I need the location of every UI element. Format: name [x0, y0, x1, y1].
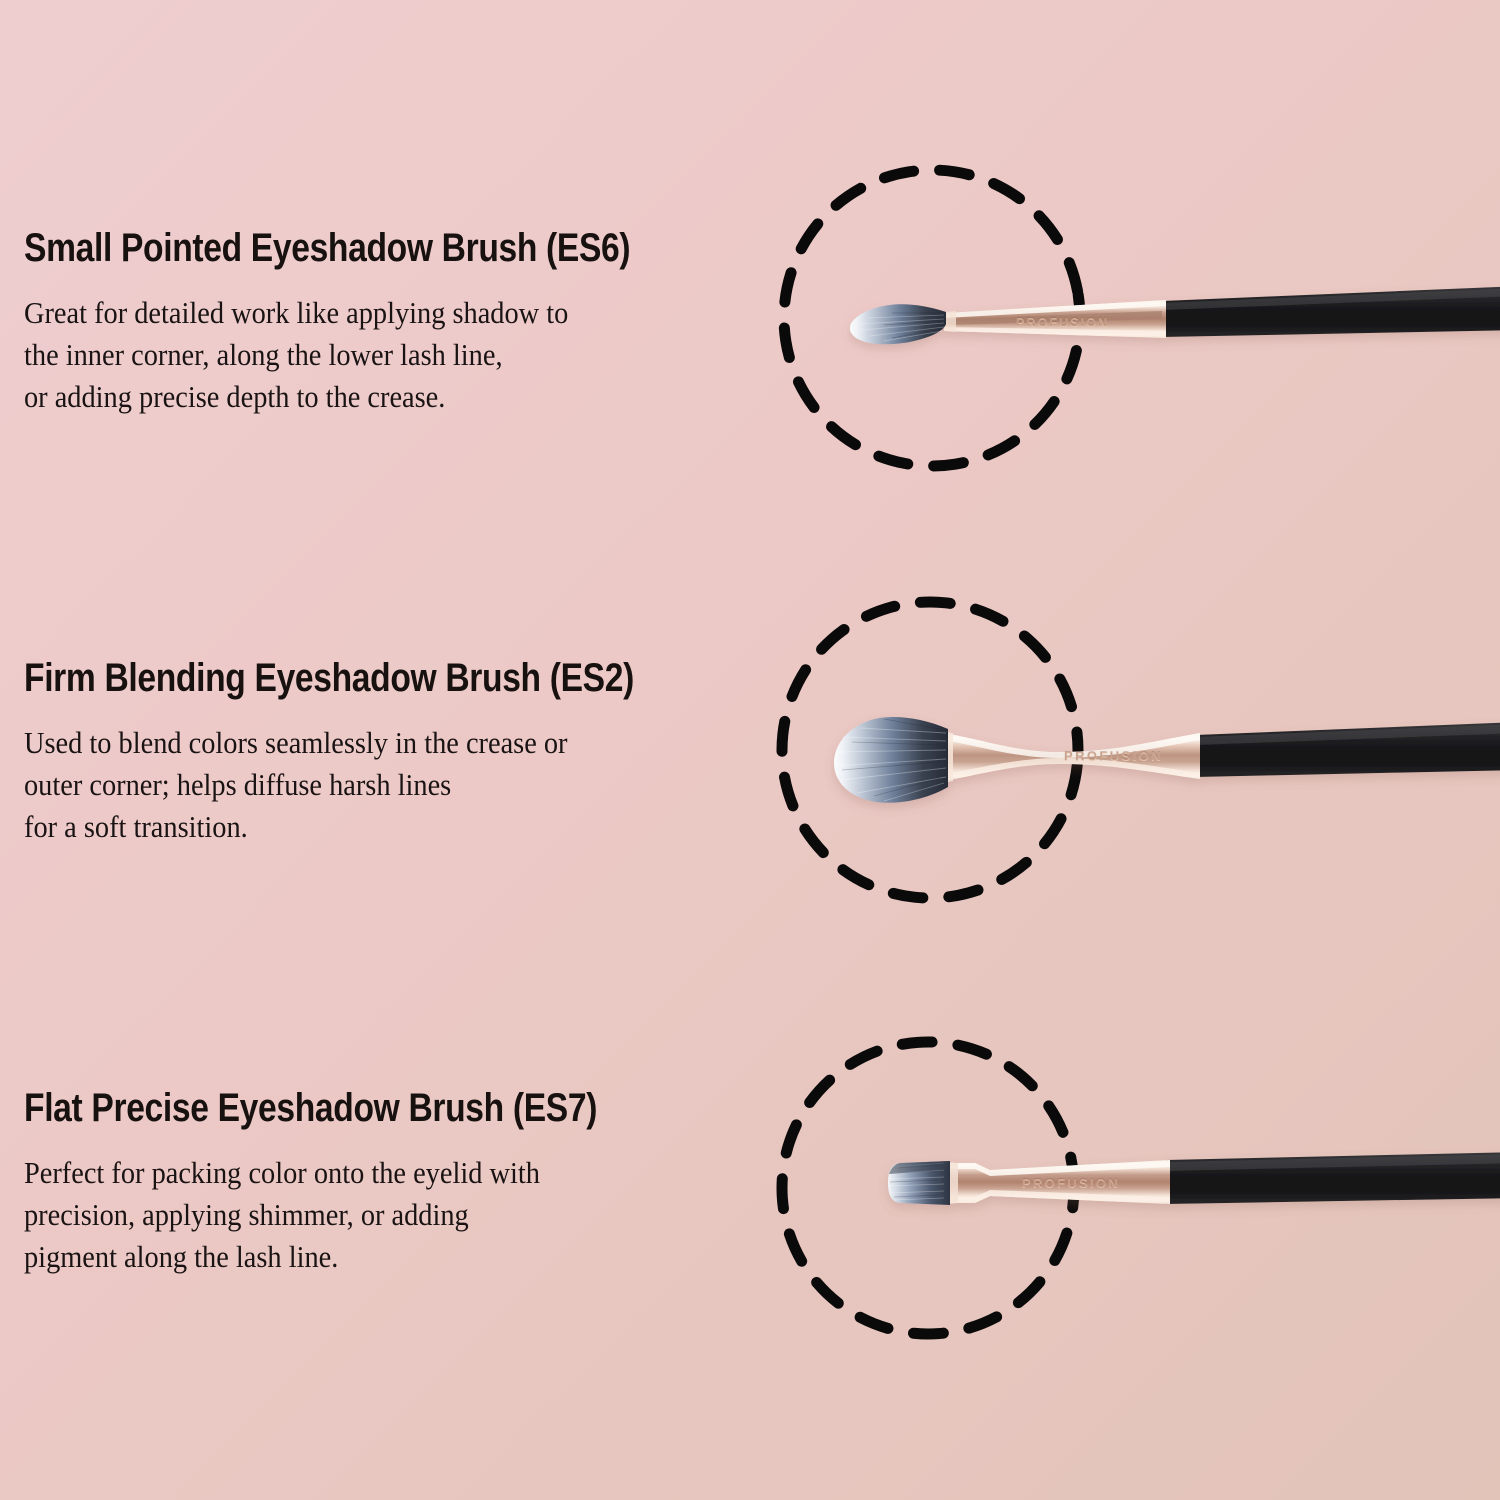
brush-es2: PROFUSION PROFUSION: [834, 717, 1500, 803]
brand-emboss-es6: PROFUSION: [1016, 316, 1109, 330]
svg-text:PROFUSION: PROFUSION: [1022, 1175, 1120, 1190]
section-body-es7: Perfect for packing color onto the eyeli…: [24, 1152, 658, 1278]
section-body-es2: Used to blend colors seamlessly in the c…: [24, 722, 699, 848]
brand-emboss-es7: PROFUSION: [1022, 1176, 1120, 1191]
section-title-es7: Flat Precise Eyeshadow Brush (ES7): [24, 1088, 597, 1128]
section-es6: Small Pointed Eyeshadow Brush (ES6) Grea…: [24, 228, 746, 418]
brand-emboss-es2: PROFUSION: [1064, 749, 1163, 764]
brush-es6: PROFUSION PROFUSION: [850, 286, 1500, 344]
brush-es7: PROFUSION PROFUSION: [888, 1152, 1500, 1205]
section-es2: Firm Blending Eyeshadow Brush (ES2) Used…: [24, 658, 750, 848]
dashed-circle-es7: [772, 1032, 1084, 1344]
svg-text:PROFUSION: PROFUSION: [1016, 315, 1109, 329]
section-title-es6: Small Pointed Eyeshadow Brush (ES6): [24, 228, 630, 268]
svg-text:PROFUSION: PROFUSION: [1064, 748, 1163, 763]
dashed-circle-es2: [767, 587, 1092, 912]
section-title-es2: Firm Blending Eyeshadow Brush (ES2): [24, 658, 634, 698]
section-body-es6: Great for detailed work like applying sh…: [24, 292, 695, 418]
product-infographic: PROFUSION PROFUSION: [0, 0, 1500, 1500]
section-es7: Flat Precise Eyeshadow Brush (ES7) Perfe…: [24, 1088, 706, 1278]
dashed-circle-es6: [763, 149, 1102, 488]
